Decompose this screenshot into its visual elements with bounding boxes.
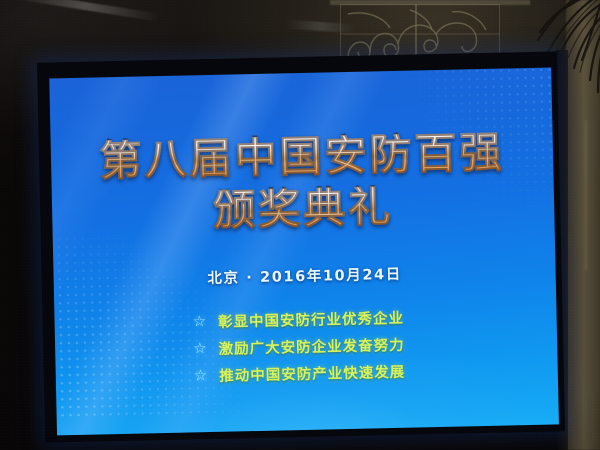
star-outline-icon: ☆ xyxy=(193,341,207,356)
list-item: ☆ 彰显中国安防行业优秀企业 xyxy=(192,306,418,332)
list-item: ☆ 推动中国安防产业快速发展 xyxy=(194,360,420,386)
star-outline-icon: ☆ xyxy=(194,368,208,383)
slide-content: 第八届中国安防百强 颁奖典礼 北京 · 2016年10月24日 ☆ 彰显中国安防… xyxy=(49,68,559,436)
led-screen: 第八届中国安防百强 颁奖典礼 北京 · 2016年10月24日 ☆ 彰显中国安防… xyxy=(37,51,565,442)
slide-bullet-list: ☆ 彰显中国安防行业优秀企业 ☆ 激励广大安防企业发奋努力 ☆ 推动中国安防产业… xyxy=(54,303,558,389)
title-line-1: 第八届中国安防百强 xyxy=(51,130,554,184)
bullet-text: 推动中国安防产业快速发展 xyxy=(219,361,405,386)
title-line-2: 颁奖典礼 xyxy=(52,182,555,236)
screen-surface: 第八届中国安防百强 颁奖典礼 北京 · 2016年10月24日 ☆ 彰显中国安防… xyxy=(49,68,559,436)
bullet-text: 彰显中国安防行业优秀企业 xyxy=(218,307,404,332)
bullet-text: 激励广大安防企业发奋努力 xyxy=(218,334,404,359)
pillar-seam xyxy=(585,120,587,270)
star-outline-icon: ☆ xyxy=(192,314,206,329)
event-date-location: 北京 · 2016年10月24日 xyxy=(53,259,555,291)
list-item: ☆ 激励广大安防企业发奋努力 xyxy=(193,333,419,359)
photo-scene: 第八届中国安防百强 颁奖典礼 北京 · 2016年10月24日 ☆ 彰显中国安防… xyxy=(0,0,600,450)
slide-title-block: 第八届中国安防百强 颁奖典礼 xyxy=(51,130,555,236)
